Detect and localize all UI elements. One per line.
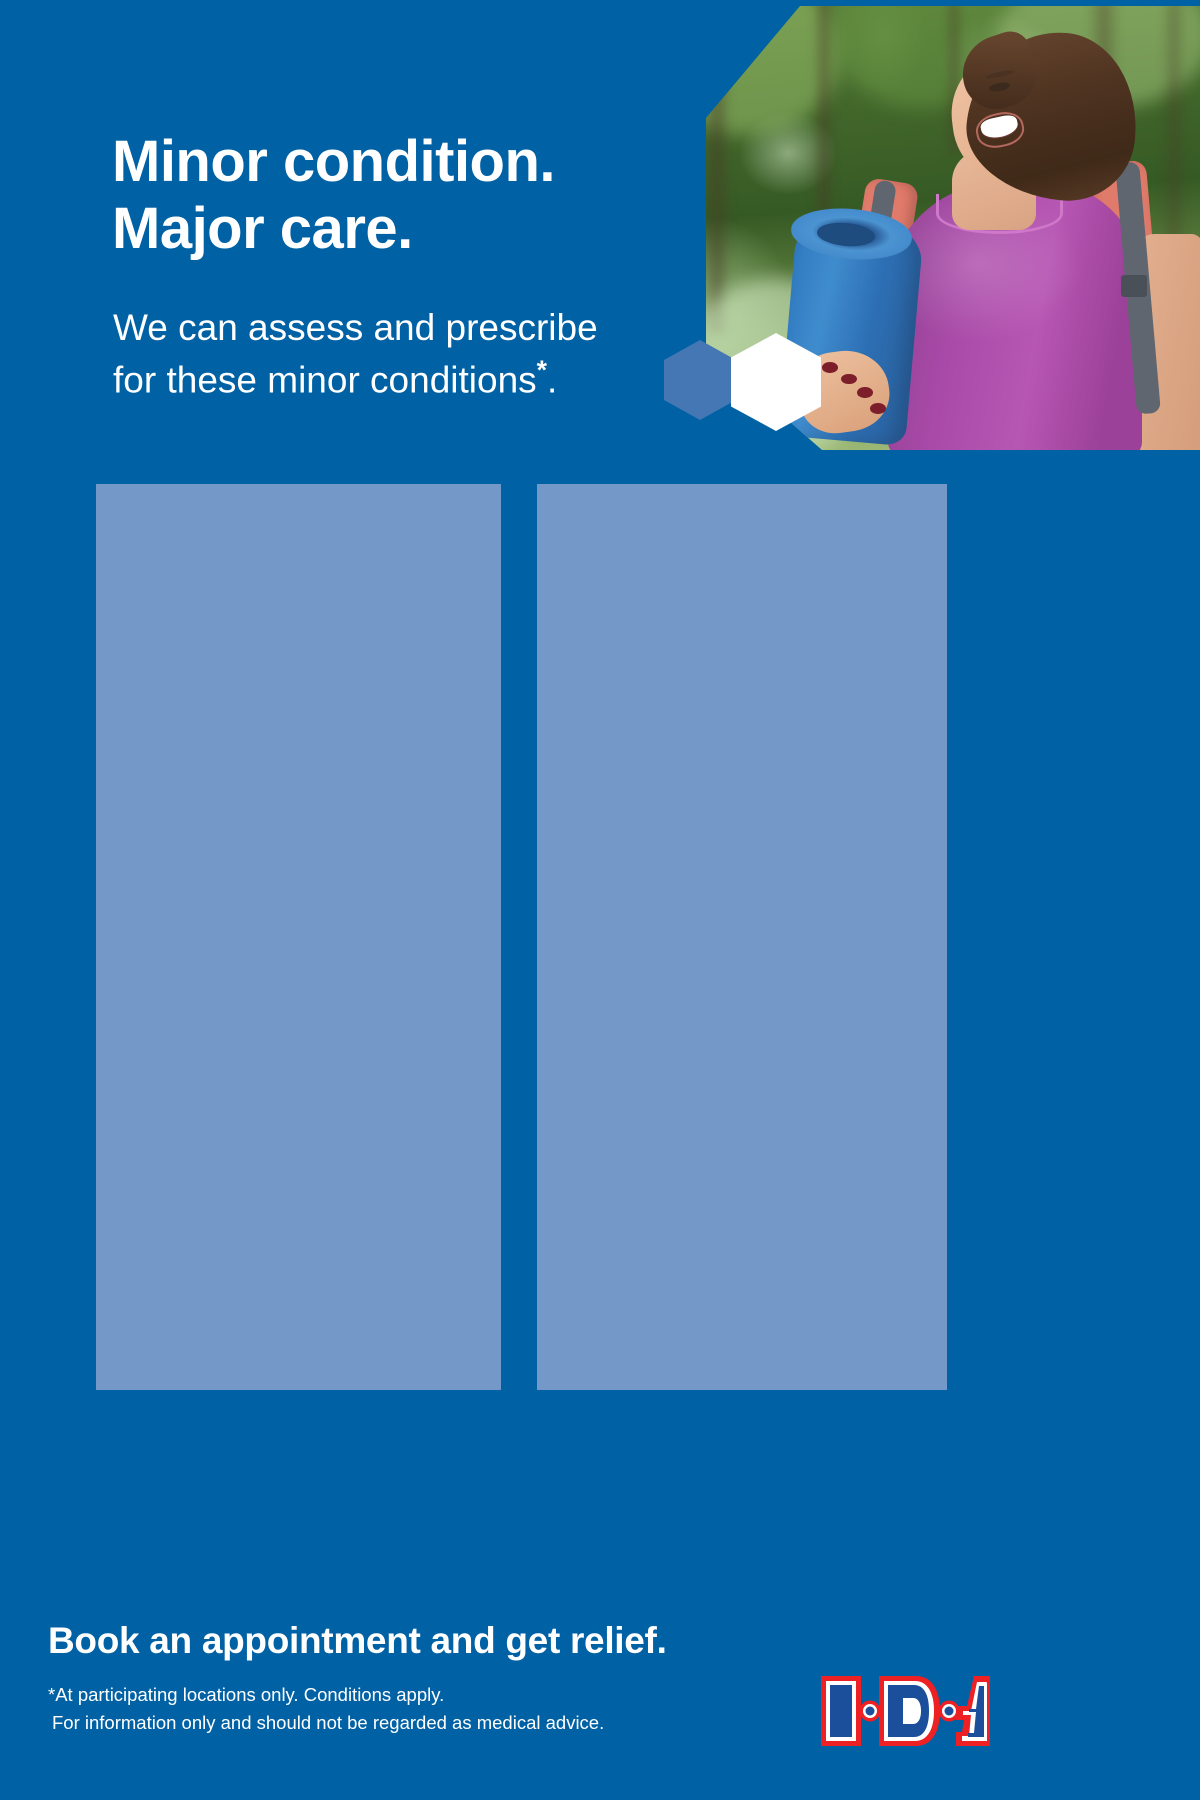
fingernail <box>870 403 886 414</box>
fingernail <box>841 374 857 385</box>
fingernail <box>857 387 873 398</box>
subtitle-line-2-text: for these minor conditions <box>113 359 537 400</box>
ida-logo-outline <box>821 1676 990 1746</box>
disclaimer-line-1: *At participating locations only. Condit… <box>48 1684 444 1705</box>
conditions-panel-left <box>96 484 501 1390</box>
cta-heading: Book an appointment and get relief. <box>48 1620 667 1662</box>
headline-line-1: Minor condition. <box>112 128 555 195</box>
headline-line-2: Major care. <box>112 195 555 262</box>
tree-trunk <box>704 0 730 333</box>
strap-buckle <box>1121 275 1147 298</box>
page-subtitle: We can assess and prescribe for these mi… <box>113 303 598 404</box>
subtitle-line-2: for these minor conditions*. <box>113 353 598 405</box>
registered-trademark-symbol: ® <box>986 1676 990 1687</box>
ida-logo[interactable]: ® <box>818 1672 990 1750</box>
poster-canvas: Minor condition. Major care. We can asse… <box>0 0 1200 1800</box>
disclaimer-text: *At participating locations only. Condit… <box>48 1681 604 1737</box>
page-title: Minor condition. Major care. <box>112 128 555 263</box>
disclaimer-line-2: For information only and should not be r… <box>48 1709 604 1737</box>
footnote-asterisk: * <box>537 355 547 385</box>
subtitle-period: . <box>547 359 557 400</box>
subtitle-line-1: We can assess and prescribe <box>113 303 598 353</box>
conditions-panel-right <box>537 484 947 1390</box>
